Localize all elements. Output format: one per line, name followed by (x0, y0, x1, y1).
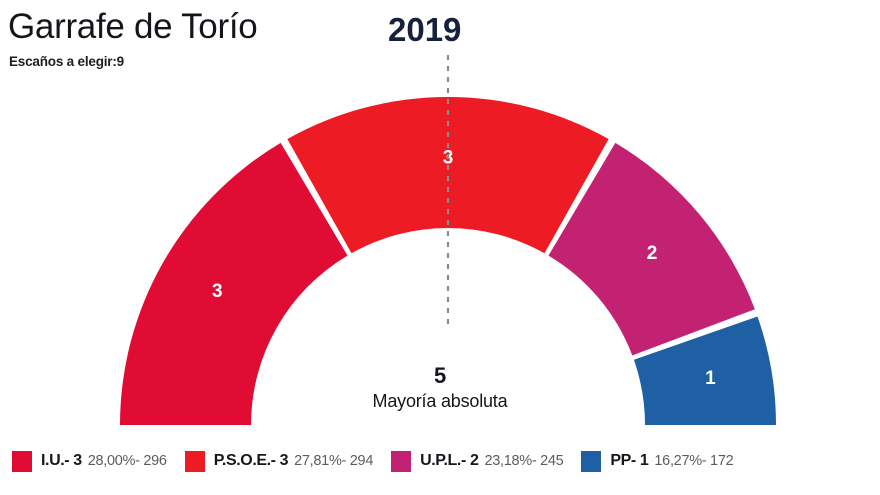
seat-segment-psoe[interactable] (287, 97, 608, 253)
legend-color-swatch (185, 451, 205, 472)
legend-party-stats: 27,81%- 294 (294, 453, 373, 469)
legend-party-name: PP- 1 (610, 452, 648, 470)
seat-count-label-upl: 2 (647, 243, 658, 264)
legend-party-stats: 16,27%- 172 (654, 453, 733, 469)
legend-color-swatch (12, 451, 32, 472)
legend-item[interactable]: U.P.L.- 223,18%- 245 (391, 451, 563, 472)
election-seat-chart: Garrafe de Torío Escaños a elegir:9 2019… (0, 0, 880, 495)
legend-party-name: U.P.L.- 2 (420, 452, 478, 470)
legend-party-name: P.S.O.E.- 3 (214, 452, 288, 470)
page-title: Garrafe de Torío (8, 6, 257, 48)
year-label: 2019 (388, 10, 461, 50)
seat-count-label-pp: 1 (705, 368, 716, 389)
hemicycle-container: 3321 (0, 45, 880, 435)
legend: I.U.- 328,00%- 296P.S.O.E.- 327,81%- 294… (0, 444, 880, 478)
legend-item[interactable]: P.S.O.E.- 327,81%- 294 (185, 451, 373, 472)
seat-count-label-iu: 3 (212, 281, 223, 302)
legend-party-stats: 23,18%- 245 (484, 453, 563, 469)
hemicycle-svg: 3321 (0, 45, 880, 435)
legend-item[interactable]: PP- 116,27%- 172 (581, 451, 733, 472)
legend-party-name: I.U.- 3 (41, 452, 82, 470)
legend-color-swatch (391, 451, 411, 472)
legend-item[interactable]: I.U.- 328,00%- 296 (12, 451, 167, 472)
legend-color-swatch (581, 451, 601, 472)
legend-party-stats: 28,00%- 296 (88, 453, 167, 469)
